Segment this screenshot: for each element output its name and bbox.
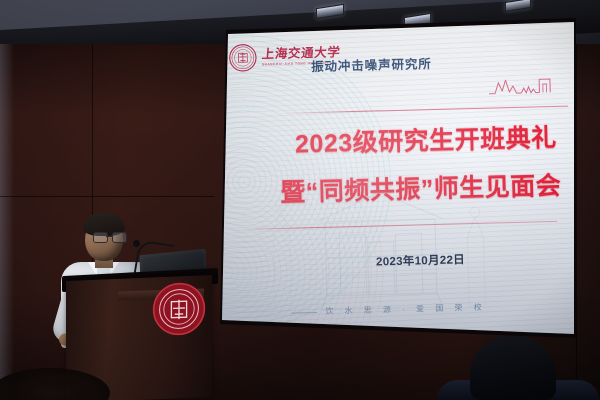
university-seal-icon bbox=[152, 281, 206, 337]
microphone-capsule-icon bbox=[133, 240, 140, 247]
wall-edge-highlight bbox=[0, 44, 14, 400]
vibration-waveform-icon bbox=[487, 74, 560, 98]
university-seal-icon bbox=[229, 43, 258, 72]
screen-surface: 上海交通大学 SHANGHAI JIAO TONG UNIVERSITY 振动冲… bbox=[214, 18, 576, 342]
screenshot-root: 上海交通大学 SHANGHAI JIAO TONG UNIVERSITY 振动冲… bbox=[0, 0, 600, 400]
projection-screen[interactable]: 上海交通大学 SHANGHAI JIAO TONG UNIVERSITY 振动冲… bbox=[214, 18, 576, 342]
wall-panel-seam bbox=[576, 44, 577, 400]
presentation-slide: 上海交通大学 SHANGHAI JIAO TONG UNIVERSITY 振动冲… bbox=[214, 18, 576, 342]
slide-title-line-1: 2023级研究生开班典礼 bbox=[295, 118, 557, 161]
audience-member-foreground bbox=[470, 336, 556, 400]
slide-date: 2023年10月22日 bbox=[376, 251, 465, 269]
institute-name: 振动冲击噪声研究所 bbox=[311, 53, 432, 75]
eyeglasses-icon bbox=[93, 232, 125, 242]
slide-title-line-2: 暨“同频共振”师生见面会 bbox=[280, 166, 562, 209]
wall-panel-seam bbox=[0, 196, 214, 197]
